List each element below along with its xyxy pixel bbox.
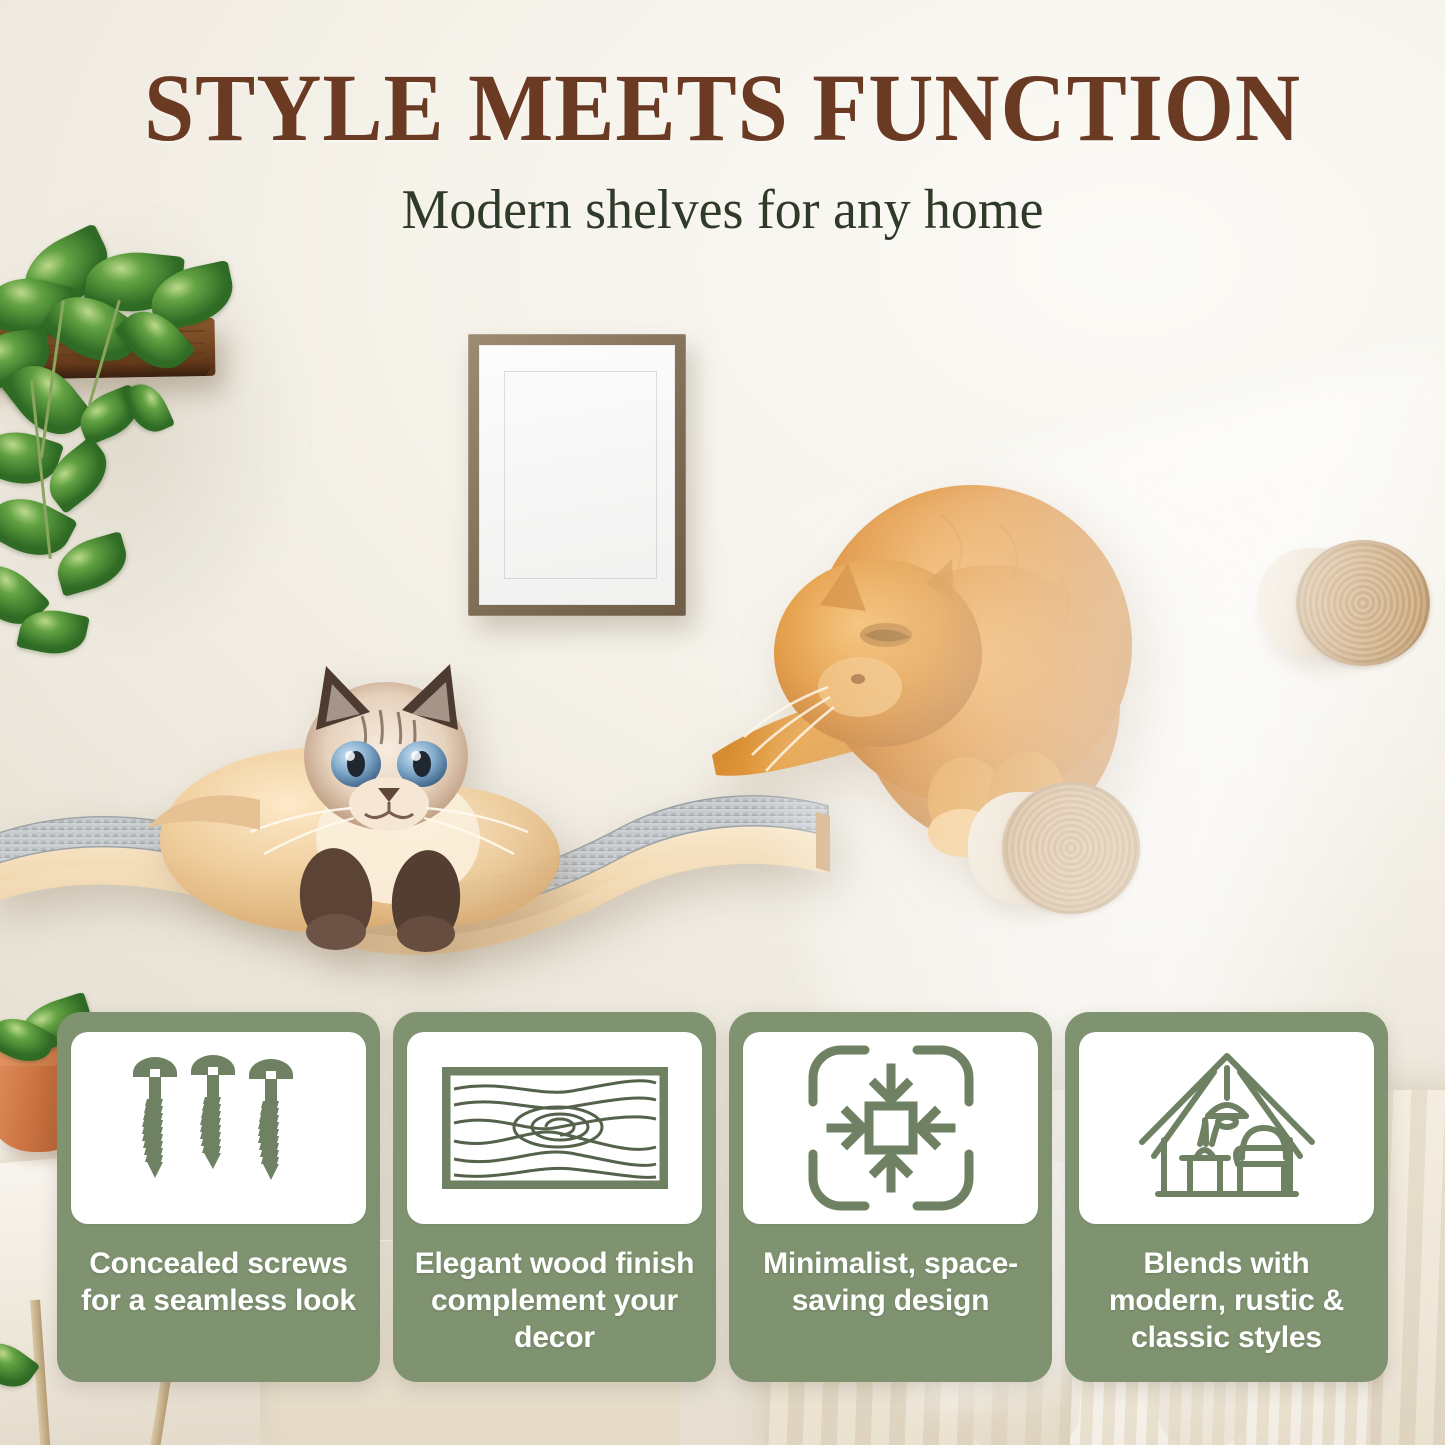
house-interior-with-lamp-plant-chair-icon [1134,1046,1320,1210]
picture-frame-mat [479,345,675,605]
feature-card-list: Concealed screws for a seamless look [57,1012,1388,1382]
icon-panel [743,1032,1038,1224]
header: STYLE MEETS FUNCTION Modern shelves for … [0,60,1445,238]
feature-card-label: Minimalist, space-saving design [743,1246,1038,1320]
wood-grain-plank-icon [442,1067,668,1189]
feature-card-label: Blends with modern, rustic & classic sty… [1079,1246,1374,1357]
three-screws-icon [119,1053,319,1203]
sisal-rope-wall-step-upper [1258,540,1430,666]
feature-card-wood-finish[interactable]: Elegant wood finish complement your deco… [393,1012,716,1382]
picture-frame [468,334,686,616]
feature-card-label: Elegant wood finish complement your deco… [407,1246,702,1357]
sisal-rope-wall-step-lower [968,782,1140,914]
icon-panel [1079,1032,1374,1224]
siamese-cat [140,660,660,960]
feature-card-concealed-screws[interactable]: Concealed screws for a seamless look [57,1012,380,1382]
page-title: STYLE MEETS FUNCTION [43,60,1401,156]
icon-panel [407,1032,702,1224]
feature-card-style-blend[interactable]: Blends with modern, rustic & classic sty… [1065,1012,1388,1382]
icon-panel [71,1032,366,1224]
feature-card-label: Concealed screws for a seamless look [71,1246,366,1320]
page-subtitle: Modern shelves for any home [29,182,1416,238]
space-saving-compress-arrows-icon [807,1044,975,1212]
feature-card-space-saving[interactable]: Minimalist, space-saving design [729,1012,1052,1382]
